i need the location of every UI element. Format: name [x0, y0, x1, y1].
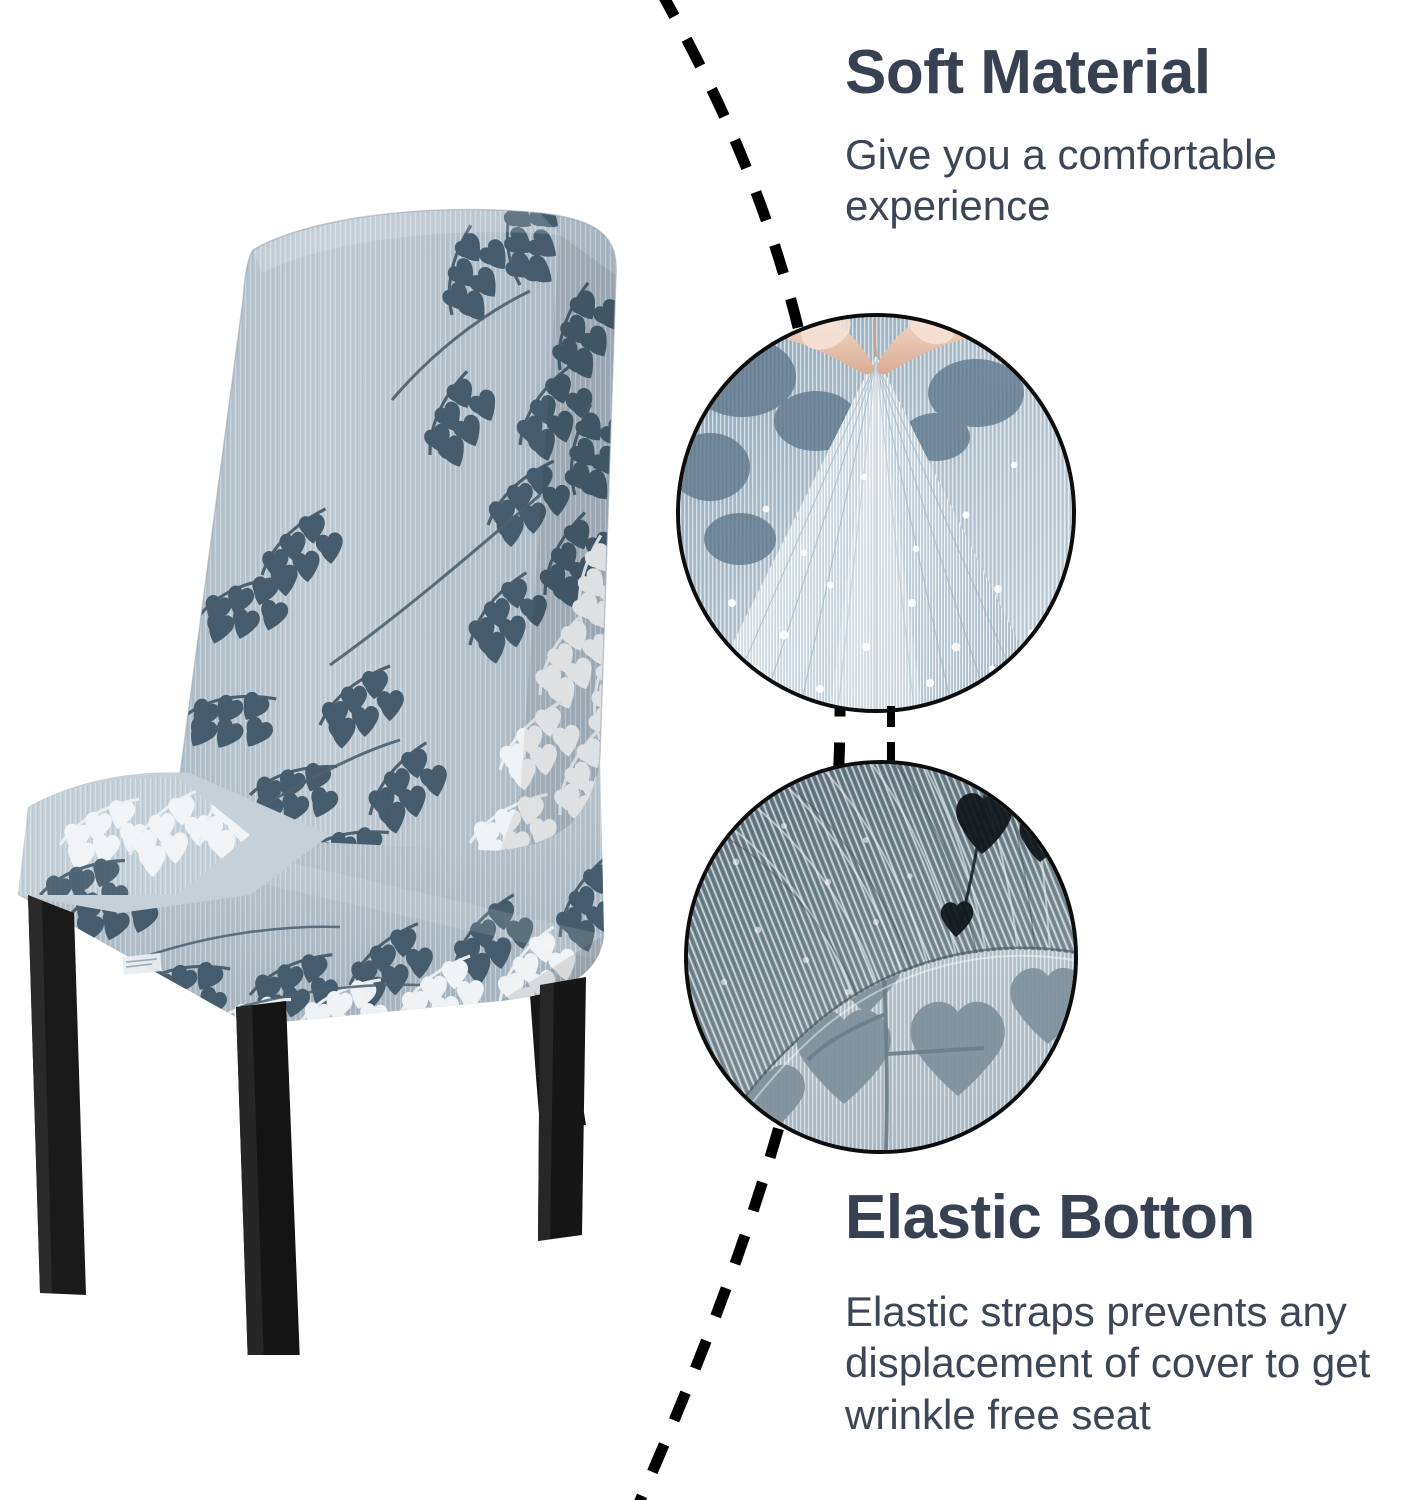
dashed-vertical-connector-icon — [886, 706, 896, 764]
chair-leg-front-center — [236, 1001, 300, 1355]
chair-leg-front-right — [538, 977, 586, 1241]
feature-block-soft-material: Soft Material Give you a comfortable exp… — [845, 40, 1385, 232]
elastic-botton-description: Elastic straps prevents any displacement… — [845, 1286, 1405, 1440]
elastic-botton-heading: Elastic Botton — [845, 1185, 1405, 1250]
infographic-canvas: Soft Material Give you a comfortable exp… — [0, 0, 1421, 1500]
soft-material-description: Give you a comfortable experience — [845, 129, 1385, 231]
soft-material-heading: Soft Material — [845, 40, 1385, 105]
detail-circle-elastic-botton — [684, 760, 1078, 1154]
chair-leg-front-left — [28, 895, 86, 1295]
chair-product-photo — [0, 195, 700, 1355]
detail-circle-soft-material — [676, 313, 1076, 713]
feature-block-elastic-botton: Elastic Botton Elastic straps prevents a… — [845, 1185, 1405, 1440]
